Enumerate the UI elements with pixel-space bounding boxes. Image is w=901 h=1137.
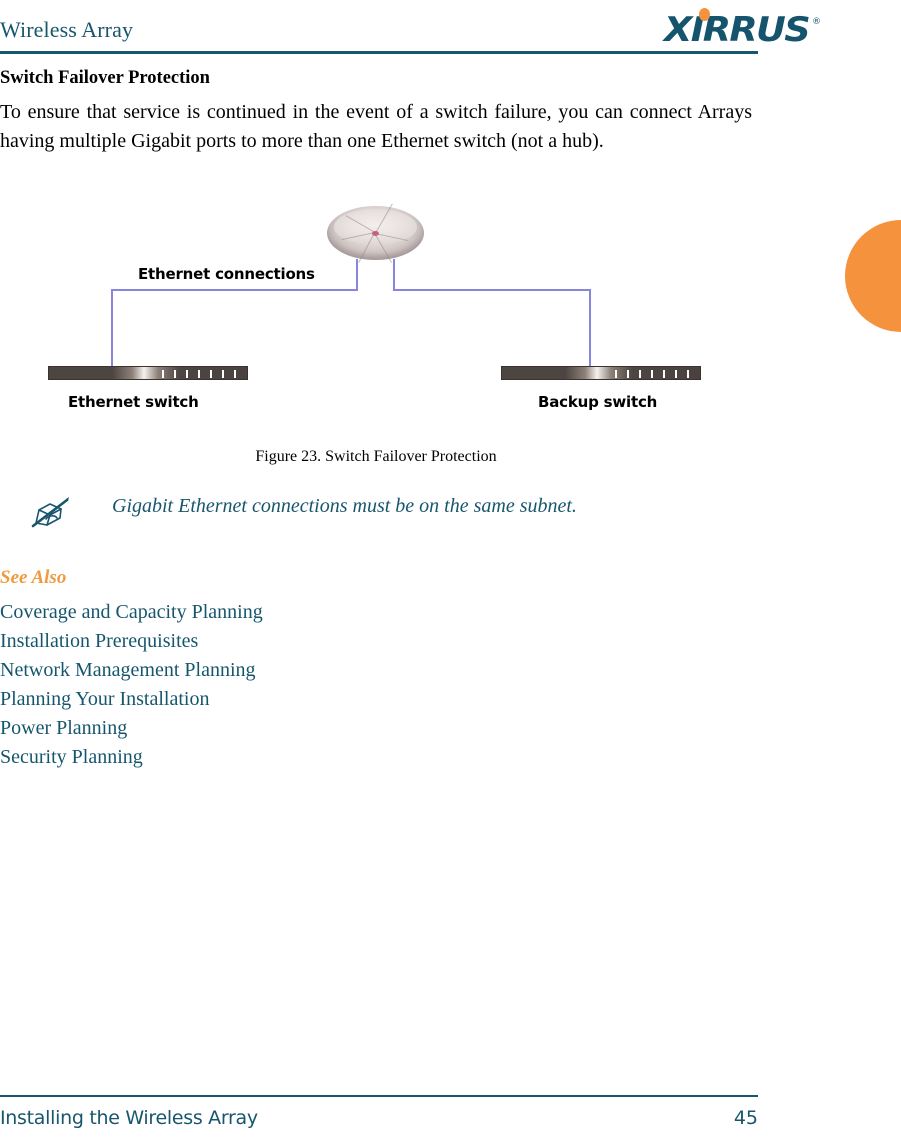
figure-caption: Figure 23. Switch Failover Protection	[0, 448, 752, 466]
switch-port	[198, 370, 200, 378]
connector-right-drop	[393, 259, 395, 291]
xirrus-logo-trademark: ®	[812, 17, 821, 27]
intro-paragraph: To ensure that service is continued in t…	[0, 98, 752, 156]
connector-right-run	[393, 289, 591, 291]
switch-port	[222, 370, 224, 378]
switch-port	[234, 370, 236, 378]
xirrus-logo: XIRRUS ®	[664, 7, 844, 51]
xirrus-logo-dot-icon	[699, 8, 710, 21]
see-also-link[interactable]: Planning Your Installation	[0, 685, 420, 714]
wireless-array-device-icon	[327, 206, 424, 260]
see-also-link[interactable]: Power Planning	[0, 714, 420, 743]
page-footer: Installing the Wireless Array 45	[0, 1095, 901, 1137]
footer-chapter-title: Installing the Wireless Array	[0, 1107, 258, 1129]
array-center-dot	[372, 231, 379, 236]
label-ethernet-switch: Ethernet switch	[68, 393, 199, 411]
switch-port	[210, 370, 212, 378]
see-also-link-list: Coverage and Capacity Planning Installat…	[0, 598, 420, 772]
connector-right-riser	[589, 289, 591, 367]
switch-port	[174, 370, 176, 378]
running-header-title: Wireless Array	[0, 17, 133, 43]
connector-left-run	[111, 289, 358, 291]
switch-port	[651, 370, 653, 378]
switch-port	[627, 370, 629, 378]
switch-port	[186, 370, 188, 378]
switch-port	[687, 370, 689, 378]
label-ethernet-connections: Ethernet connections	[138, 265, 315, 283]
switch-port	[615, 370, 617, 378]
see-also-link[interactable]: Network Management Planning	[0, 656, 420, 685]
see-also-heading: See Also	[0, 567, 66, 589]
footer-divider	[0, 1095, 758, 1097]
chapter-edge-tab	[845, 220, 901, 332]
see-also-link[interactable]: Coverage and Capacity Planning	[0, 598, 420, 627]
connector-left-drop	[356, 259, 358, 291]
see-also-link[interactable]: Installation Prerequisites	[0, 627, 420, 656]
xirrus-logo-wordmark: XIRRUS	[664, 13, 809, 47]
ethernet-switch-graphic	[48, 366, 248, 380]
switch-port	[639, 370, 641, 378]
switch-port	[663, 370, 665, 378]
see-also-link[interactable]: Security Planning	[0, 743, 420, 772]
page-header: Wireless Array XIRRUS ®	[0, 0, 901, 58]
backup-switch-graphic	[501, 366, 701, 380]
label-backup-switch: Backup switch	[538, 393, 657, 411]
note-block: Gigabit Ethernet connections must be on …	[0, 493, 760, 535]
note-pen-icon	[30, 495, 70, 529]
switch-port	[675, 370, 677, 378]
switch-failover-diagram: Ethernet connections Ethernet switch Bac…	[0, 195, 760, 420]
header-divider	[0, 51, 758, 54]
switch-port	[162, 370, 164, 378]
note-text: Gigabit Ethernet connections must be on …	[112, 495, 577, 518]
section-heading: Switch Failover Protection	[0, 68, 210, 89]
connector-left-riser	[111, 289, 113, 367]
footer-page-number: 45	[700, 1107, 758, 1129]
